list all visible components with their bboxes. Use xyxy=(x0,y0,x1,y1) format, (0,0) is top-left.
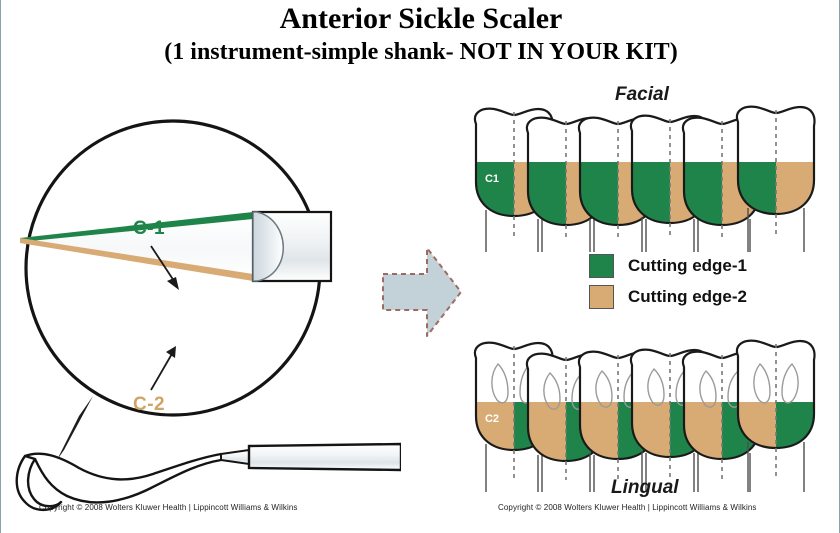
green-swatch xyxy=(589,254,614,278)
copyright-left: Copyright © 2008 Wolters Kluwer Health |… xyxy=(39,503,297,512)
sickle-tip xyxy=(17,456,61,510)
legend-label-cutting-edge-1: Cutting edge-1 xyxy=(628,256,747,276)
tan-swatch xyxy=(589,285,614,309)
page-subtitle: (1 instrument-simple shank- NOT IN YOUR … xyxy=(1,37,840,67)
handle-neck xyxy=(221,450,249,464)
tooth-facial-6 xyxy=(732,104,820,252)
tooth-tag-left: C2 xyxy=(485,413,499,425)
instrument-panel: C-1 C-2 xyxy=(1,78,401,528)
legend-item-cutting-edge-2: Cutting edge-2 xyxy=(589,283,747,310)
instrument-shank-upper xyxy=(25,454,221,480)
legend-label-cutting-edge-2: Cutting edge-2 xyxy=(628,287,747,307)
title-block: Anterior Sickle Scaler (1 instrument-sim… xyxy=(1,2,840,67)
instrument-handle xyxy=(249,444,401,470)
tooth-tag-left: C1 xyxy=(485,173,499,185)
legend: Cutting edge-1 Cutting edge-2 xyxy=(589,252,747,314)
tooth-lingual-6 xyxy=(732,338,820,492)
right-arrow-icon xyxy=(379,243,465,341)
slide-canvas: Anterior Sickle Scaler (1 instrument-sim… xyxy=(0,0,840,533)
page-title: Anterior Sickle Scaler xyxy=(1,2,840,36)
instrument-illustration xyxy=(1,78,401,528)
facial-row-caption: Facial xyxy=(615,84,669,106)
copyright-right: Copyright © 2008 Wolters Kluwer Health |… xyxy=(498,503,756,512)
instrument-shank xyxy=(35,459,221,502)
magnifier-stem xyxy=(57,396,93,460)
facial-tooth-row: C1 C2 xyxy=(470,104,820,252)
c2-label: C-2 xyxy=(133,394,165,416)
transition-arrow xyxy=(379,243,465,341)
c1-label: C-1 xyxy=(133,218,165,240)
lingual-row-caption: Lingual xyxy=(611,477,679,499)
legend-item-cutting-edge-1: Cutting edge-1 xyxy=(589,252,747,279)
lingual-tooth-row: C2 C1 xyxy=(470,338,820,492)
